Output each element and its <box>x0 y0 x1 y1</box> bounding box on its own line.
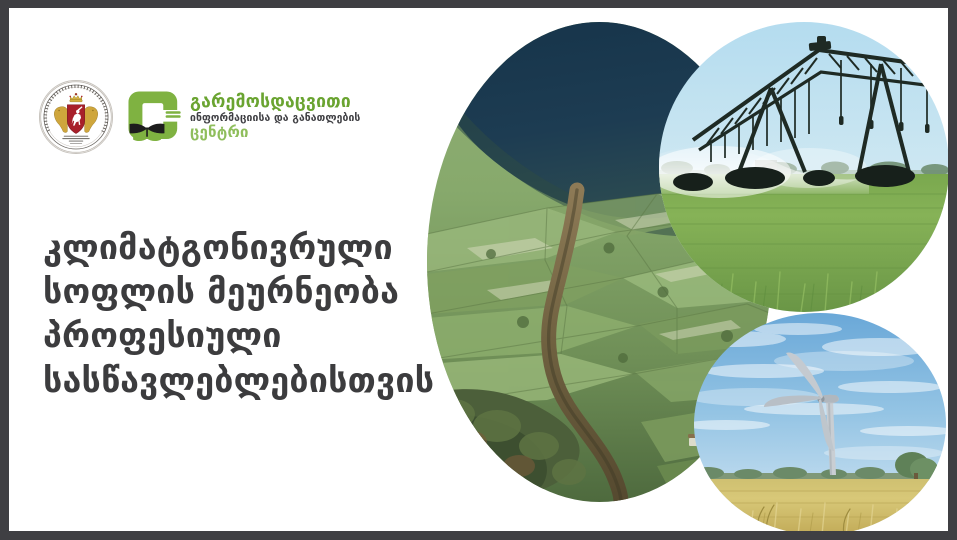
ministry-seal-alt: Ministry of Environmental Protection and… <box>40 153 41 154</box>
banner-canvas: Ministry of Environmental Protection and… <box>9 8 948 531</box>
eiec-book-monitor-icon <box>125 88 183 146</box>
eiec-wordmark: გარემოსდაცვითი ინფორმაციისა და განათლები… <box>190 93 360 141</box>
headline-line-4: სასწავლებლებისთვის <box>43 359 473 403</box>
wind-turbine-field-image <box>694 313 946 531</box>
eiec-logo: გარემოსდაცვითი ინფორმაციისა და განათლები… <box>125 88 360 146</box>
banner-frame: Ministry of Environmental Protection and… <box>0 0 957 540</box>
eiec-line-3: ცენტრი <box>190 125 360 141</box>
headline-line-1: კლიმატგონივრული <box>43 226 473 270</box>
eiec-line-1: გარემოსდაცვითი <box>190 93 360 111</box>
headline-line-3: პროფესიული <box>43 314 473 358</box>
logo-lockup: Ministry of Environmental Protection and… <box>39 80 360 154</box>
ministry-seal-icon: Ministry of Environmental Protection and… <box>39 80 113 154</box>
center-pivot-irrigation-image <box>659 22 948 312</box>
headline-line-2: სოფლის მეურნეობა <box>43 270 473 314</box>
page-title: კლიმატგონივრული სოფლის მეურნეობა პროფესი… <box>43 226 473 403</box>
